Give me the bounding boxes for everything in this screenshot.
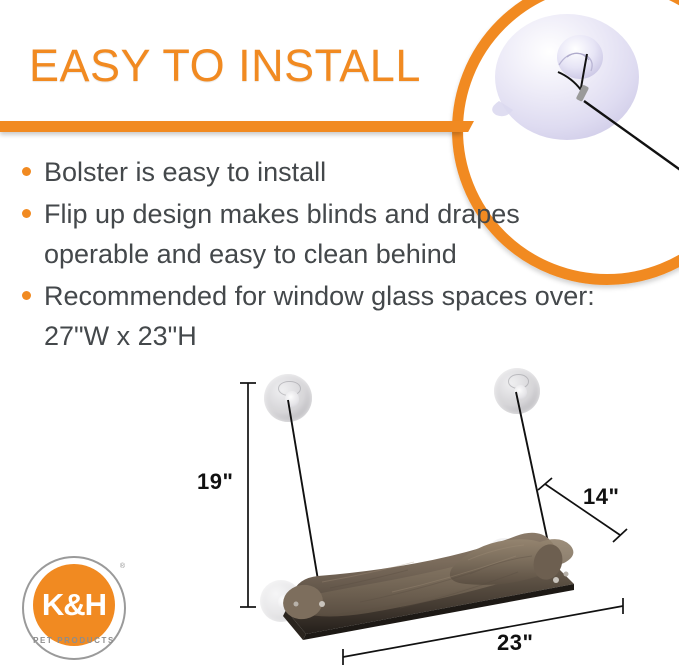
feature-bullet-list: Bolster is easy to install Flip up desig… bbox=[22, 152, 622, 358]
bullet-text: Flip up design makes blinds and drapes o… bbox=[44, 194, 622, 274]
logo-tagline: PET PRODUCTS bbox=[22, 636, 126, 645]
promo-image-canvas: EASY TO INSTALL Bolster is easy to insta… bbox=[0, 0, 679, 668]
bullet-text: Recommended for window glass spaces over… bbox=[44, 276, 622, 356]
orange-rule-divider bbox=[0, 121, 462, 132]
dimension-label-depth: 14" bbox=[583, 484, 619, 510]
page-title: EASY TO INSTALL bbox=[29, 40, 421, 92]
bullet-dot-icon bbox=[22, 291, 31, 300]
dimension-label-height: 19" bbox=[197, 469, 233, 495]
list-item: Flip up design makes blinds and drapes o… bbox=[22, 194, 622, 274]
bullet-dot-icon bbox=[22, 167, 31, 176]
dimension-label-width: 23" bbox=[497, 630, 533, 656]
bullet-dot-icon bbox=[22, 209, 31, 218]
registered-trademark-icon: ® bbox=[120, 563, 125, 570]
bullet-text: Bolster is easy to install bbox=[44, 152, 326, 192]
list-item: Recommended for window glass spaces over… bbox=[22, 276, 622, 356]
brand-logo: K&H PET PRODUCTS ® bbox=[22, 556, 126, 660]
list-item: Bolster is easy to install bbox=[22, 152, 622, 192]
